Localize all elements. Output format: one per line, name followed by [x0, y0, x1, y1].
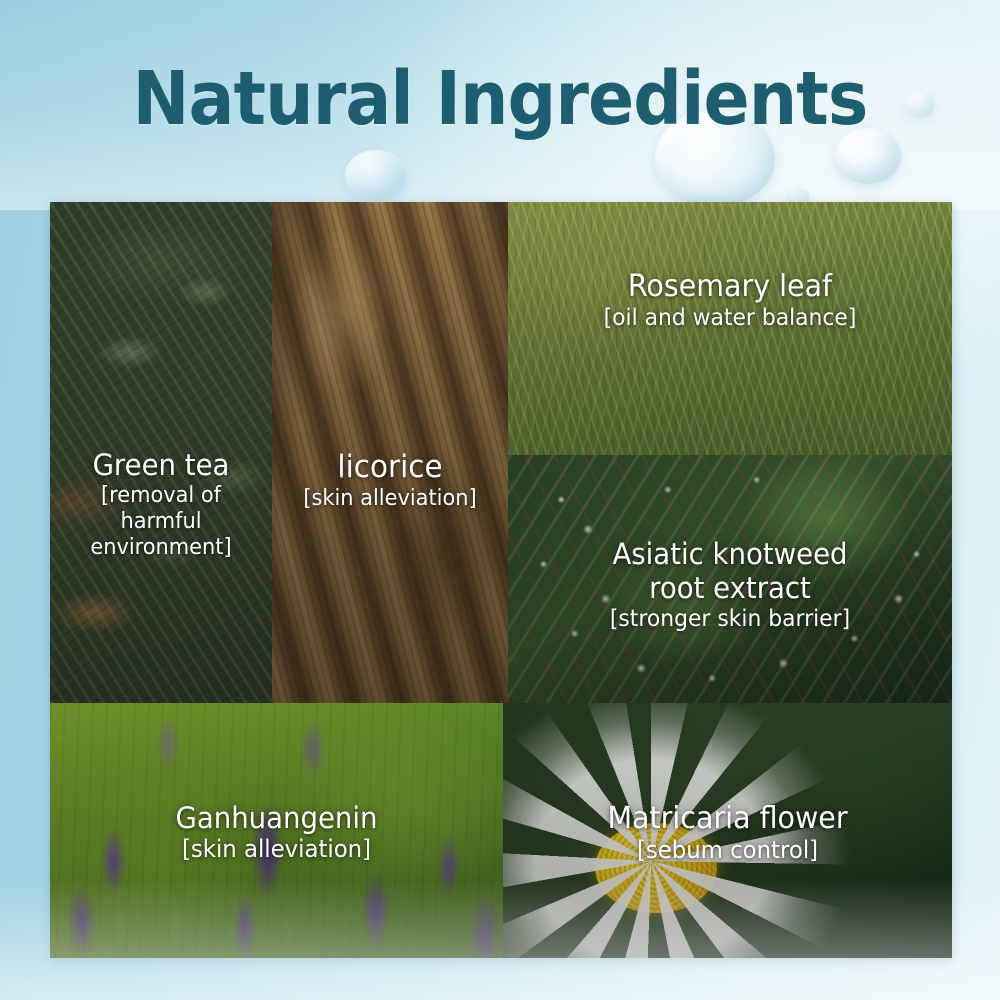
asiatic-knotweed-caption: Asiatic knotweed root extract [stronger …: [508, 537, 952, 633]
page-title: Natural Ingredients: [40, 62, 960, 136]
ingredient-tile-licorice[interactable]: licorice [skin alleviation]: [272, 202, 508, 703]
ganhuangenin-benefit: [skin alleviation]: [67, 835, 486, 863]
green-tea-name: Green tea: [61, 448, 261, 482]
licorice-benefit: [skin alleviation]: [284, 486, 497, 512]
ingredient-tile-ganhuangenin[interactable]: Ganhuangenin [skin alleviation]: [50, 703, 503, 958]
green-tea-caption: Green tea [removal of harmful environmen…: [50, 448, 272, 560]
ingredient-tile-rosemary[interactable]: Rosemary leaf [oil and water balance]: [508, 202, 952, 455]
ganhuangenin-name: Ganhuangenin: [67, 801, 486, 835]
asiatic-knotweed-name-line2: root extract: [525, 571, 935, 605]
asiatic-knotweed-benefit: [stronger skin barrier]: [525, 606, 935, 633]
matricaria-name: Matricaria flower: [520, 801, 935, 836]
licorice-caption: licorice [skin alleviation]: [272, 449, 508, 512]
ganhuangenin-caption: Ganhuangenin [skin alleviation]: [50, 801, 503, 864]
ingredient-tile-green-tea[interactable]: Green tea [removal of harmful environmen…: [50, 202, 272, 703]
ingredient-tile-asiatic-knotweed[interactable]: Asiatic knotweed root extract [stronger …: [508, 455, 952, 703]
licorice-name: licorice: [284, 449, 497, 486]
rosemary-benefit: [oil and water balance]: [525, 305, 935, 332]
rosemary-name: Rosemary leaf: [525, 269, 935, 304]
green-tea-benefit: [removal of harmful environment]: [61, 483, 261, 561]
ingredient-tile-matricaria[interactable]: Matricaria flower [sebum control]: [503, 703, 952, 958]
ingredient-grid: Green tea [removal of harmful environmen…: [50, 202, 952, 958]
water-droplet-small-icon: [345, 150, 407, 200]
ingredient-infographic: Natural Ingredients Green tea [removal o…: [0, 0, 1000, 1000]
rosemary-caption: Rosemary leaf [oil and water balance]: [508, 269, 952, 332]
asiatic-knotweed-name-line1: Asiatic knotweed: [525, 537, 935, 571]
matricaria-caption: Matricaria flower [sebum control]: [503, 801, 952, 865]
matricaria-benefit: [sebum control]: [520, 836, 935, 864]
